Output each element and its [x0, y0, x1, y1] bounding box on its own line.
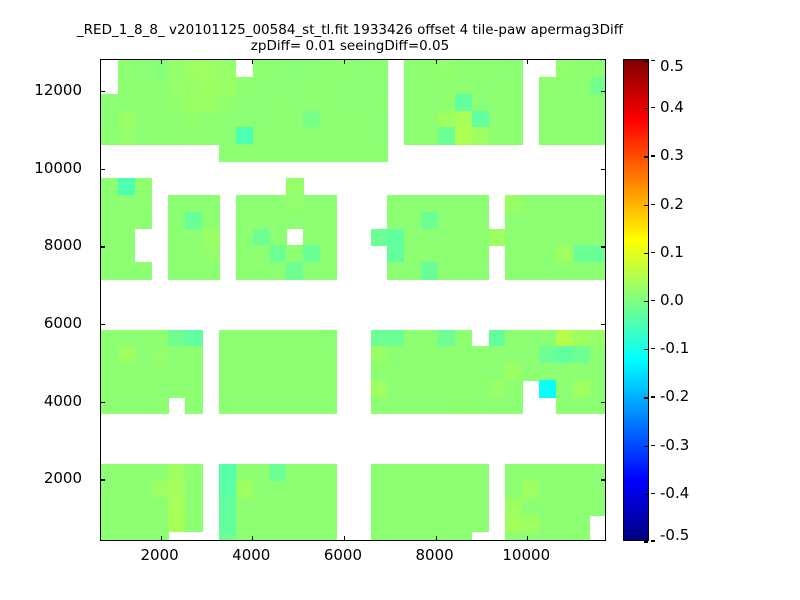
heatmap-cell — [421, 94, 438, 111]
heatmap-cell — [421, 380, 438, 397]
heatmap-cell — [118, 397, 135, 414]
heatmap-cell — [522, 532, 539, 540]
heatmap-cell — [472, 195, 489, 212]
heatmap-cell — [152, 380, 169, 397]
heatmap-cell — [202, 127, 219, 144]
heatmap-cell — [320, 532, 337, 540]
heatmap-cell — [438, 346, 455, 363]
heatmap-cell — [270, 229, 287, 246]
heatmap-cell — [505, 127, 522, 144]
heatmap-cell — [556, 127, 573, 144]
heatmap-cell — [202, 245, 219, 262]
heatmap-cell — [135, 195, 152, 212]
heatmap-cell — [387, 245, 404, 262]
y-axis-tick — [601, 479, 605, 480]
heatmap-cell — [168, 229, 185, 246]
heatmap-cell — [168, 212, 185, 229]
heatmap-cell — [337, 144, 354, 161]
heatmap-cell — [168, 515, 185, 532]
heatmap-cell — [270, 330, 287, 347]
heatmap-cell — [505, 111, 522, 128]
heatmap-cell — [253, 498, 270, 515]
colorbar-tick-label: -0.3 — [660, 436, 689, 454]
y-axis-tick-labels: 20004000600080001000012000 — [0, 59, 92, 541]
heatmap-cell — [219, 346, 236, 363]
colorbar-gradient — [624, 60, 648, 540]
heatmap-cell — [539, 481, 556, 498]
heatmap-cell — [590, 481, 605, 498]
colorbar-tick — [651, 396, 655, 397]
heatmap-cell — [253, 111, 270, 128]
heatmap-cell — [101, 363, 118, 380]
heatmap-cell — [505, 94, 522, 111]
heatmap-cell — [590, 262, 605, 279]
heatmap-cell — [438, 464, 455, 481]
heatmap-cell — [185, 195, 202, 212]
heatmap-cell — [168, 330, 185, 347]
heatmap-cell — [270, 262, 287, 279]
heatmap-cell — [421, 229, 438, 246]
heatmap-cell — [421, 127, 438, 144]
x-axis-tick — [436, 536, 437, 540]
heatmap-cell — [573, 532, 590, 540]
heatmap-cell — [152, 481, 169, 498]
heatmap-cell — [320, 481, 337, 498]
heatmap-cell — [573, 346, 590, 363]
heatmap-cell — [590, 94, 605, 111]
heatmap-cell — [168, 195, 185, 212]
heatmap-cell — [219, 380, 236, 397]
heatmap-cell — [371, 111, 388, 128]
heatmap-cell — [135, 94, 152, 111]
heatmap-cell — [337, 111, 354, 128]
heatmap-cell — [101, 397, 118, 414]
heatmap-cell — [101, 515, 118, 532]
heatmap-cell — [590, 330, 605, 347]
heatmap-cell — [118, 532, 135, 540]
heatmap-cell — [573, 262, 590, 279]
x-tick-label: 6000 — [324, 546, 362, 564]
heatmap-cell — [320, 363, 337, 380]
heatmap-cell — [337, 77, 354, 94]
colorbar-tick-inner — [644, 108, 648, 109]
heatmap-cell — [404, 195, 421, 212]
heatmap-cell — [438, 245, 455, 262]
heatmap-cell — [472, 245, 489, 262]
heatmap-cell — [387, 532, 404, 540]
heatmap-cell — [253, 60, 270, 77]
heatmap-cell — [472, 498, 489, 515]
heatmap-cell — [505, 498, 522, 515]
heatmap-cell — [320, 111, 337, 128]
heatmap-cell — [505, 346, 522, 363]
heatmap-cell — [303, 481, 320, 498]
heatmap-cell — [320, 262, 337, 279]
heatmap-cell — [202, 94, 219, 111]
heatmap-cell — [135, 212, 152, 229]
heatmap-cell — [556, 380, 573, 397]
heatmap-cell — [455, 229, 472, 246]
heatmap-cell — [185, 346, 202, 363]
y-axis-tick — [101, 91, 105, 92]
heatmap-cell — [236, 515, 253, 532]
heatmap-cell — [438, 363, 455, 380]
heatmap-cell — [118, 195, 135, 212]
heatmap-cell — [505, 245, 522, 262]
heatmap-cell — [522, 515, 539, 532]
heatmap-cell — [421, 195, 438, 212]
heatmap-cell — [303, 77, 320, 94]
heatmap-cell — [270, 532, 287, 540]
colorbar-tick-inner — [644, 61, 648, 62]
heatmap-cell — [371, 330, 388, 347]
heatmap-cell — [371, 498, 388, 515]
colorbar-tick — [651, 445, 655, 446]
heatmap-cell — [219, 60, 236, 77]
heatmap-cell — [236, 380, 253, 397]
heatmap-cell — [320, 346, 337, 363]
heatmap-cell — [320, 144, 337, 161]
colorbar-tick-label: 0.1 — [660, 243, 684, 261]
x-axis-tick — [436, 60, 437, 64]
heatmap-cell — [337, 60, 354, 77]
heatmap-cell — [489, 94, 506, 111]
heatmap-cell — [303, 195, 320, 212]
heatmap-cell — [539, 212, 556, 229]
heatmap-cell — [168, 346, 185, 363]
heatmap-cell — [371, 515, 388, 532]
heatmap-cell — [286, 330, 303, 347]
heatmap-cell — [219, 464, 236, 481]
heatmap-cell — [573, 77, 590, 94]
heatmap-cell — [185, 498, 202, 515]
heatmap-cell — [135, 498, 152, 515]
heatmap-cell — [101, 346, 118, 363]
heatmap-cell — [101, 330, 118, 347]
heatmap-cell — [522, 262, 539, 279]
heatmap-cell — [438, 515, 455, 532]
colorbar-tick-label: 0.3 — [660, 146, 684, 164]
heatmap-cell — [387, 229, 404, 246]
heatmap-cell — [472, 481, 489, 498]
heatmap-cell — [404, 532, 421, 540]
colorbar-tick-label: 0.2 — [660, 195, 684, 213]
heatmap-cell — [303, 498, 320, 515]
heatmap-cell — [118, 60, 135, 77]
heatmap-cell — [101, 212, 118, 229]
heatmap-cell — [303, 245, 320, 262]
heatmap-cell — [286, 245, 303, 262]
heatmap-cell — [387, 346, 404, 363]
heatmap-cell — [101, 94, 118, 111]
heatmap-cell — [539, 330, 556, 347]
heatmap-cell — [371, 532, 388, 540]
heatmap-cell — [202, 212, 219, 229]
heatmap-cell — [539, 380, 556, 397]
heatmap-cell — [539, 363, 556, 380]
heatmap-cell — [404, 262, 421, 279]
heatmap-cell — [185, 397, 202, 414]
heatmap-cell — [303, 346, 320, 363]
heatmap-cell — [286, 178, 303, 195]
heatmap-cell — [472, 346, 489, 363]
heatmap-cell — [539, 464, 556, 481]
y-tick-label: 8000 — [44, 236, 82, 254]
heatmap-cell — [152, 127, 169, 144]
heatmap-cell-grid — [101, 60, 605, 540]
heatmap-cell — [489, 111, 506, 128]
heatmap-cell — [438, 397, 455, 414]
heatmap-cell — [253, 380, 270, 397]
heatmap-cell — [472, 60, 489, 77]
heatmap-cell — [404, 77, 421, 94]
heatmap-cell — [185, 245, 202, 262]
heatmap-cell — [320, 229, 337, 246]
heatmap-cell — [455, 481, 472, 498]
x-axis-tick — [252, 536, 253, 540]
heatmap-cell — [590, 60, 605, 77]
heatmap-cell — [303, 464, 320, 481]
heatmap-cell — [286, 532, 303, 540]
x-tick-label: 10000 — [502, 546, 550, 564]
heatmap-cell — [472, 94, 489, 111]
heatmap-cell — [236, 144, 253, 161]
heatmap-cell — [505, 515, 522, 532]
heatmap-cell — [253, 245, 270, 262]
heatmap-cell — [118, 77, 135, 94]
heatmap-cell — [438, 60, 455, 77]
heatmap-cell — [320, 94, 337, 111]
heatmap-cell — [505, 481, 522, 498]
heatmap-cell — [505, 397, 522, 414]
heatmap-cell — [253, 515, 270, 532]
heatmap-cell — [168, 245, 185, 262]
heatmap-cell — [472, 363, 489, 380]
heatmap-cell — [455, 498, 472, 515]
colorbar-tick — [651, 60, 655, 61]
colorbar-tick — [651, 204, 655, 205]
heatmap-cell — [253, 195, 270, 212]
y-tick-label: 6000 — [44, 314, 82, 332]
heatmap-cell — [404, 498, 421, 515]
heatmap-cell — [253, 94, 270, 111]
colorbar-tick — [651, 300, 655, 301]
heatmap-cell — [472, 464, 489, 481]
x-axis-tick-labels: 200040006000800010000 — [100, 546, 606, 572]
colorbar-tick-inner — [644, 446, 648, 447]
heatmap-cell — [489, 346, 506, 363]
heatmap-cell — [505, 212, 522, 229]
heatmap-cell — [404, 481, 421, 498]
heatmap-cell — [455, 212, 472, 229]
heatmap-cell — [152, 363, 169, 380]
heatmap-cell — [236, 94, 253, 111]
heatmap-cell — [455, 330, 472, 347]
heatmap-cell — [455, 94, 472, 111]
heatmap-cell — [573, 229, 590, 246]
heatmap-cell — [219, 498, 236, 515]
heatmap-cell — [472, 397, 489, 414]
heatmap-cell — [135, 380, 152, 397]
heatmap-cell — [438, 77, 455, 94]
heatmap-cell — [556, 464, 573, 481]
heatmap-cell — [489, 229, 506, 246]
heatmap-cell — [152, 330, 169, 347]
heatmap-cell — [118, 346, 135, 363]
heatmap-cell — [404, 111, 421, 128]
heatmap-cell — [387, 380, 404, 397]
heatmap-cell — [505, 330, 522, 347]
heatmap-cell — [371, 363, 388, 380]
heatmap-cell — [371, 60, 388, 77]
heatmap-cell — [253, 229, 270, 246]
heatmap-cell — [455, 464, 472, 481]
heatmap-cell — [421, 262, 438, 279]
colorbar-tick-label: 0.5 — [660, 57, 684, 75]
heatmap-cell — [489, 127, 506, 144]
heatmap-cell — [118, 229, 135, 246]
heatmap-cell — [101, 127, 118, 144]
heatmap-cell — [286, 481, 303, 498]
heatmap-cell — [168, 380, 185, 397]
heatmap-cell — [354, 144, 371, 161]
heatmap-cell — [118, 380, 135, 397]
heatmap-cell — [320, 397, 337, 414]
heatmap-cell — [421, 397, 438, 414]
heatmap-cell — [118, 464, 135, 481]
heatmap-cell — [118, 262, 135, 279]
heatmap-cell — [303, 144, 320, 161]
heatmap-cell — [286, 397, 303, 414]
x-axis-tick — [161, 60, 162, 64]
y-axis-tick — [101, 246, 105, 247]
heatmap-cell — [253, 532, 270, 540]
heatmap-cell — [590, 195, 605, 212]
heatmap-cell — [253, 397, 270, 414]
colorbar — [623, 59, 649, 541]
heatmap-cell — [270, 380, 287, 397]
heatmap-cell — [202, 229, 219, 246]
heatmap-cell — [438, 94, 455, 111]
heatmap-cell — [320, 245, 337, 262]
y-axis-tick — [601, 324, 605, 325]
heatmap-cell — [455, 532, 472, 540]
heatmap-cell — [421, 464, 438, 481]
heatmap-cell — [404, 229, 421, 246]
heatmap-cell — [286, 77, 303, 94]
heatmap-cell — [455, 363, 472, 380]
heatmap-cell — [286, 498, 303, 515]
heatmap-cell — [135, 481, 152, 498]
heatmap-cell — [236, 245, 253, 262]
heatmap-cell — [168, 464, 185, 481]
heatmap-cell — [202, 111, 219, 128]
heatmap-cell — [472, 77, 489, 94]
heatmap-cell — [101, 262, 118, 279]
heatmap-cell — [505, 363, 522, 380]
heatmap-cell — [421, 212, 438, 229]
heatmap-cell — [438, 111, 455, 128]
heatmap-cell — [101, 498, 118, 515]
heatmap-cell — [253, 127, 270, 144]
heatmap-cell — [286, 94, 303, 111]
heatmap-cell — [270, 481, 287, 498]
heatmap-cell — [168, 111, 185, 128]
heatmap-cell — [438, 212, 455, 229]
heatmap-cell — [387, 397, 404, 414]
x-axis-tick — [527, 536, 528, 540]
heatmap-cell — [135, 346, 152, 363]
heatmap-cell — [270, 397, 287, 414]
heatmap-cell — [505, 532, 522, 540]
x-tick-label: 4000 — [232, 546, 270, 564]
heatmap-cell — [118, 212, 135, 229]
x-axis-tick — [344, 60, 345, 64]
heatmap-cell — [354, 111, 371, 128]
title-line-2: zpDiff= 0.01 seeingDiff=0.05 — [0, 38, 700, 54]
heatmap-cell — [270, 127, 287, 144]
heatmap-cell — [253, 346, 270, 363]
heatmap-cell — [387, 515, 404, 532]
heatmap-cell — [303, 330, 320, 347]
heatmap-cell — [101, 481, 118, 498]
heatmap-cell — [522, 464, 539, 481]
heatmap-cell — [438, 498, 455, 515]
heatmap-cell — [556, 363, 573, 380]
heatmap-cell — [573, 397, 590, 414]
heatmap-cell — [387, 195, 404, 212]
heatmap-cell — [522, 245, 539, 262]
heatmap-cell — [505, 229, 522, 246]
heatmap-cell — [455, 60, 472, 77]
heatmap-cell — [522, 498, 539, 515]
heatmap-cell — [573, 330, 590, 347]
heatmap-cell — [270, 212, 287, 229]
heatmap-cell — [489, 330, 506, 347]
colorbar-tick-inner — [644, 205, 648, 206]
heatmap-cell — [219, 94, 236, 111]
heatmap-cell — [118, 111, 135, 128]
heatmap-cell — [556, 397, 573, 414]
heatmap-cell — [270, 111, 287, 128]
heatmap-cell — [135, 127, 152, 144]
colorbar-tick-label: -0.4 — [660, 484, 689, 502]
heatmap-cell — [371, 77, 388, 94]
heatmap-cell — [522, 195, 539, 212]
colorbar-tick-inner — [644, 349, 648, 350]
heatmap-cell — [270, 60, 287, 77]
heatmap-cell — [539, 111, 556, 128]
x-axis-tick — [161, 536, 162, 540]
heatmap-cell — [236, 195, 253, 212]
heatmap-cell — [573, 195, 590, 212]
heatmap-cell — [371, 346, 388, 363]
heatmap-cell — [185, 94, 202, 111]
heatmap-cell — [421, 346, 438, 363]
heatmap-cell — [253, 212, 270, 229]
heatmap-cell — [286, 515, 303, 532]
heatmap-cell — [556, 346, 573, 363]
heatmap-cell — [253, 481, 270, 498]
colorbar-tick-inner — [644, 397, 648, 398]
colorbar-tick-inner — [644, 541, 648, 542]
heatmap-cell — [387, 464, 404, 481]
heatmap-cell — [438, 229, 455, 246]
heatmap-cell — [590, 397, 605, 414]
heatmap-cell — [152, 464, 169, 481]
heatmap-cell — [556, 532, 573, 540]
heatmap-cell — [404, 94, 421, 111]
